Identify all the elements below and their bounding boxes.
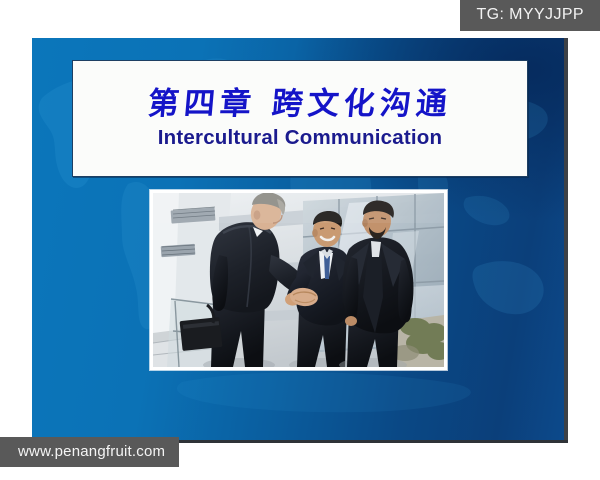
businessmen-handshake-photo (153, 193, 444, 367)
photo-artwork (153, 193, 444, 367)
slide-photo-frame (150, 190, 447, 370)
slide-title-chinese: 第四章 跨文化沟通 (147, 87, 454, 122)
slide-title-box: 第四章 跨文化沟通 Intercultural Communication (72, 60, 528, 177)
telegram-tag-badge: TG: MYYJJPP (460, 0, 600, 31)
slide-title-english: Intercultural Communication (158, 126, 442, 150)
site-watermark: www.penangfruit.com (0, 437, 179, 467)
presentation-slide: 第四章 跨文化沟通 Intercultural Communication (32, 38, 568, 443)
slide-right-edge (564, 38, 568, 443)
